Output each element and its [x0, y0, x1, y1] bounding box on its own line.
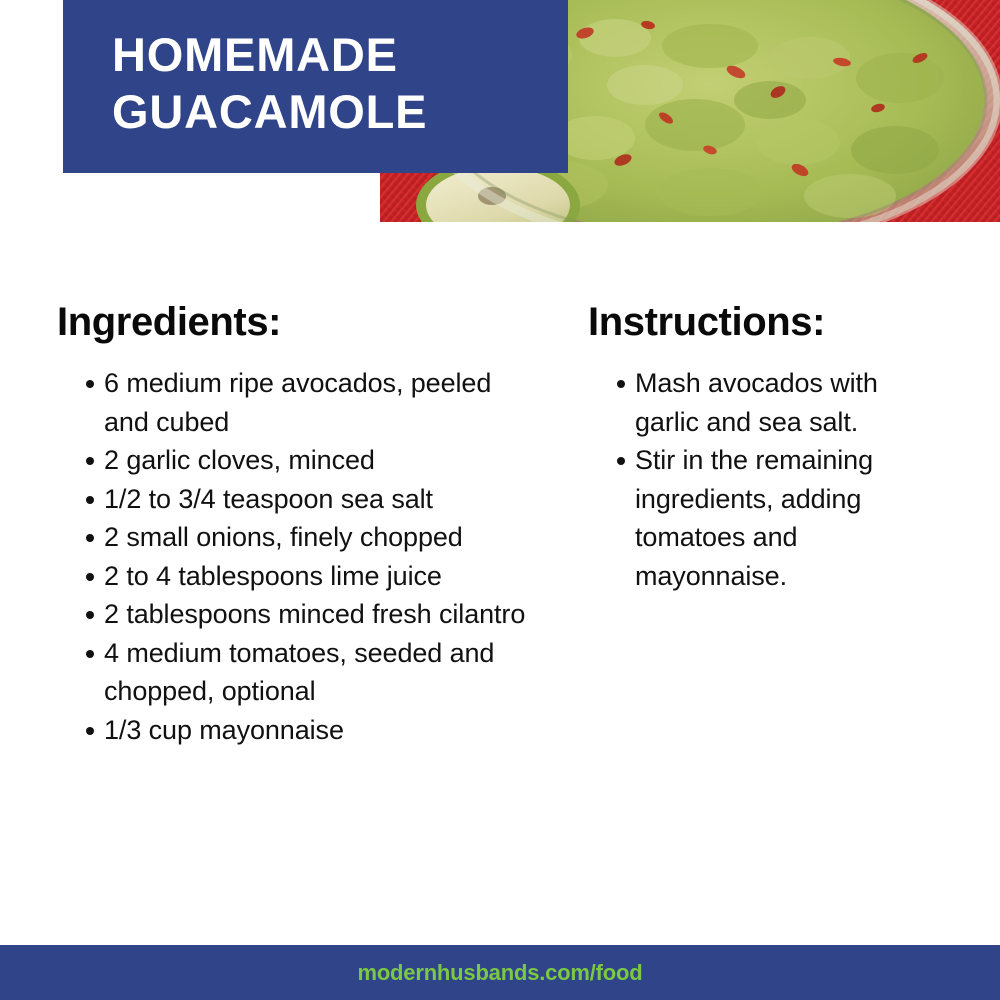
list-item: 2 small onions, finely chopped [57, 518, 527, 557]
bullet-icon [86, 457, 94, 465]
ingredient-text: 2 garlic cloves, minced [104, 445, 375, 475]
bullet-icon [86, 534, 94, 542]
list-item: 1/2 to 3/4 teaspoon sea salt [57, 480, 527, 519]
ingredient-text: 4 medium tomatoes, seeded and chopped, o… [104, 638, 494, 707]
ingredient-text: 6 medium ripe avocados, peeled and cubed [104, 368, 491, 437]
list-item: 1/3 cup mayonnaise [57, 711, 527, 750]
bullet-icon [86, 380, 94, 388]
bullet-icon [86, 573, 94, 581]
ingredient-text: 2 tablespoons minced fresh cilantro [104, 599, 525, 629]
list-item: 2 tablespoons minced fresh cilantro [57, 595, 527, 634]
title-banner: HOMEMADE GUACAMOLE [63, 0, 568, 173]
bullet-icon [86, 611, 94, 619]
instructions-heading: Instructions: [588, 300, 948, 344]
instruction-text: Stir in the remaining ingredients, addin… [635, 445, 873, 591]
footer-website-link[interactable]: modernhusbands.com/food [357, 960, 642, 986]
instructions-list: Mash avocados with garlic and sea salt. … [588, 364, 948, 595]
ingredients-list: 6 medium ripe avocados, peeled and cubed… [57, 364, 527, 749]
ingredients-heading: Ingredients: [57, 300, 527, 344]
bullet-icon [617, 380, 625, 388]
bullet-icon [617, 457, 625, 465]
bullet-icon [86, 496, 94, 504]
footer-bar: modernhusbands.com/food [0, 945, 1000, 1000]
list-item: 6 medium ripe avocados, peeled and cubed [57, 364, 527, 441]
list-item: Stir in the remaining ingredients, addin… [588, 441, 948, 595]
ingredient-text: 1/3 cup mayonnaise [104, 715, 344, 745]
list-item: 2 to 4 tablespoons lime juice [57, 557, 527, 596]
list-item: Mash avocados with garlic and sea salt. [588, 364, 948, 441]
ingredient-text: 2 small onions, finely chopped [104, 522, 463, 552]
bullet-icon [86, 727, 94, 735]
instructions-section: Instructions: Mash avocados with garlic … [588, 300, 948, 595]
instruction-text: Mash avocados with garlic and sea salt. [635, 368, 878, 437]
list-item: 2 garlic cloves, minced [57, 441, 527, 480]
list-item: 4 medium tomatoes, seeded and chopped, o… [57, 634, 527, 711]
recipe-card: HOMEMADE GUACAMOLE Ingredients: 6 medium… [0, 0, 1000, 1000]
page-title: HOMEMADE GUACAMOLE [112, 26, 542, 140]
recipe-body: Ingredients: 6 medium ripe avocados, pee… [0, 300, 1000, 920]
ingredients-section: Ingredients: 6 medium ripe avocados, pee… [57, 300, 527, 749]
ingredient-text: 1/2 to 3/4 teaspoon sea salt [104, 484, 433, 514]
bullet-icon [86, 650, 94, 658]
ingredient-text: 2 to 4 tablespoons lime juice [104, 561, 442, 591]
